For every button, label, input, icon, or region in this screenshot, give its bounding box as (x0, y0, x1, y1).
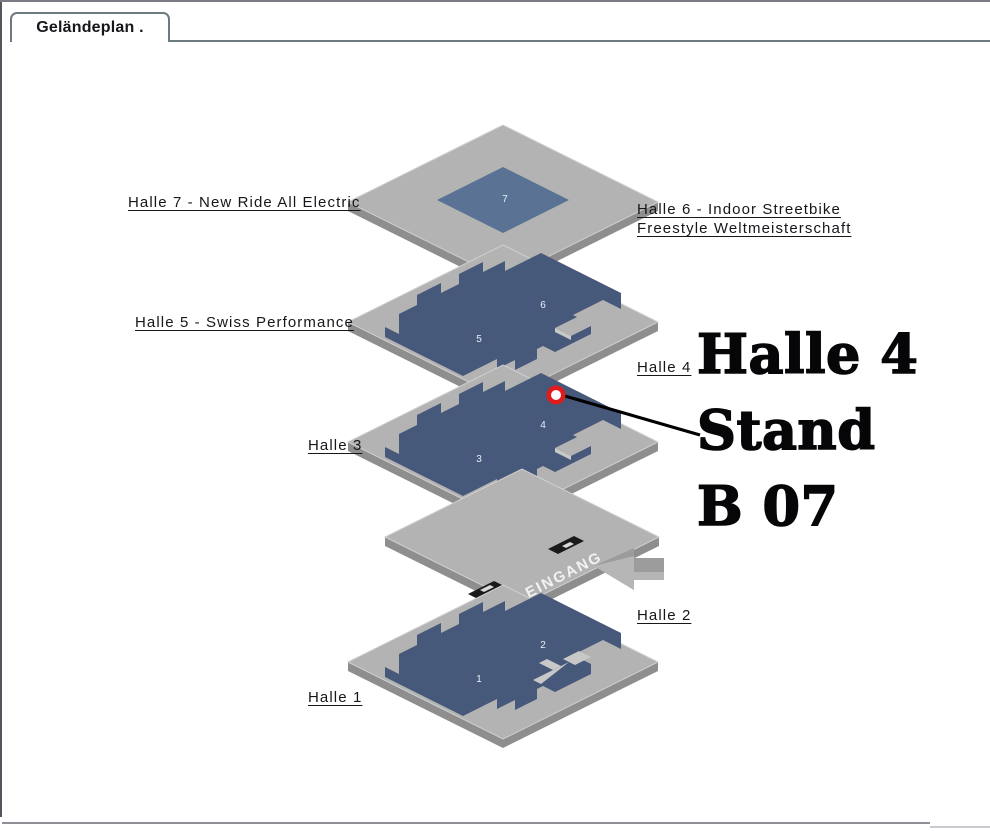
tab-gelaendeplan-label: Geländeplan . (36, 19, 144, 37)
tab-gelaendeplan[interactable]: Geländeplan . (10, 12, 170, 42)
window-bottom-border (2, 822, 930, 824)
window-top-border (0, 0, 990, 2)
hall-link-halle-5[interactable]: Halle 5 - Swiss Performance (135, 313, 354, 332)
hall-link-halle-3[interactable]: Halle 3 (308, 436, 362, 455)
hall-link-halle-4[interactable]: Halle 4 (637, 358, 691, 377)
stand-callout: Halle 4 Stand B 07 (697, 316, 957, 544)
level-entrance[interactable]: EINGANG (385, 469, 659, 614)
hall-2-number: 2 (540, 640, 546, 651)
hall-link-halle-1[interactable]: Halle 1 (308, 688, 362, 707)
hall-link-halle-7[interactable]: Halle 7 - New Ride All Electric (128, 193, 361, 212)
tab-bar: Geländeplan . (2, 6, 988, 42)
hall-link-halle-6-line1: Halle 6 - Indoor Streetbike (637, 201, 841, 218)
hall-4-number: 4 (540, 420, 546, 431)
hall-6-number: 6 (540, 300, 546, 311)
stand-callout-line3: B 07 (697, 468, 957, 544)
stand-callout-line1: Halle 4 (697, 316, 957, 392)
window-bottom-border-right (930, 826, 990, 828)
stand-callout-line2: Stand (697, 392, 957, 468)
hall-1-number: 1 (476, 674, 482, 685)
stand-location-marker[interactable] (547, 386, 566, 405)
hall-5-number: 5 (476, 334, 482, 345)
hall-link-halle-2[interactable]: Halle 2 (637, 606, 691, 625)
level-12[interactable]: 1 2 (348, 585, 658, 748)
hall-7-number: 7 (502, 194, 508, 205)
hall-3-number: 3 (476, 454, 482, 465)
hall-link-halle-6-line2: Freestyle Weltmeisterschaft (637, 220, 851, 237)
hall-link-halle-6[interactable]: Halle 6 - Indoor Streetbike Freestyle We… (637, 200, 862, 238)
geländeplan-window: Geländeplan . 7 (0, 0, 990, 831)
